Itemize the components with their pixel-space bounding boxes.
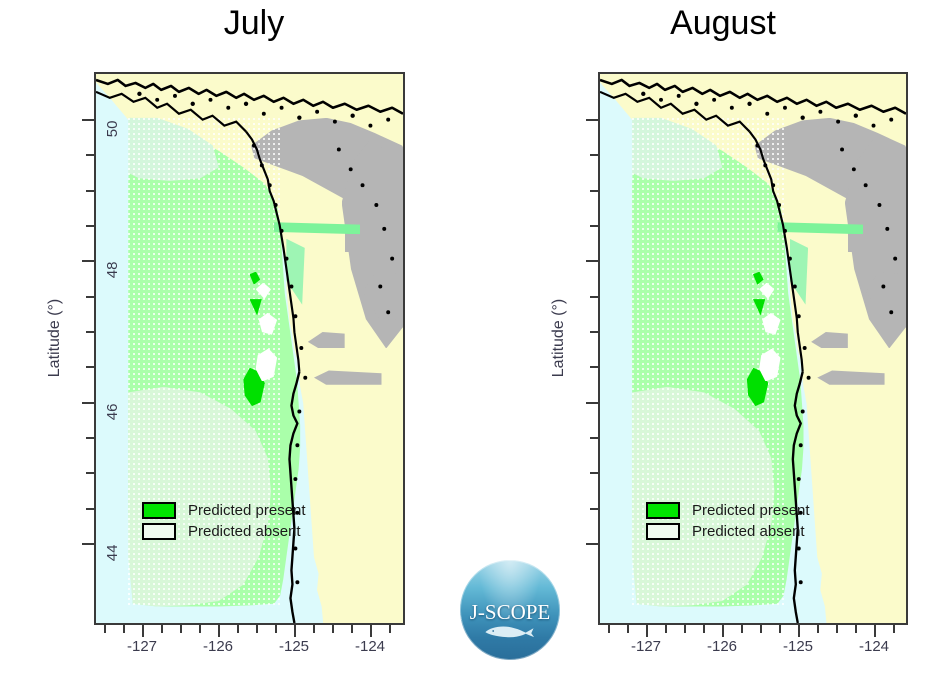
jscope-logo[interactable]: J-SCOPE (460, 560, 560, 660)
logo-text: J-SCOPE (460, 600, 560, 625)
x-tick-minor (893, 625, 895, 633)
y-tick-minor (590, 225, 598, 227)
panel-title-august: August (463, 6, 927, 40)
x-tick-minor (389, 625, 391, 633)
x-tick-label: -127 (127, 638, 157, 655)
legend-swatch-absent (646, 523, 680, 540)
x-tick-major (798, 625, 800, 637)
legend-july: Predicted present Predicted absent (142, 502, 306, 544)
y-axis-label-august: Latitude (°) (550, 299, 568, 377)
y-tick-minor (86, 366, 94, 368)
y-tick-minor (590, 366, 598, 368)
y-tick-minor (590, 508, 598, 510)
x-tick-label: -126 (203, 638, 233, 655)
x-tick-major (646, 625, 648, 637)
y-tick-minor (590, 296, 598, 298)
legend-label-absent: Predicted absent (188, 523, 301, 540)
x-tick-label: -125 (783, 638, 813, 655)
x-tick-minor (313, 625, 315, 633)
y-tick-major (82, 260, 94, 262)
x-tick-minor (332, 625, 334, 633)
map-july[interactable]: Predicted present Predicted absent (94, 72, 405, 625)
x-tick-label: -127 (631, 638, 661, 655)
x-tick-minor (351, 625, 353, 633)
x-tick-minor (104, 625, 106, 633)
y-tick-minor (590, 190, 598, 192)
legend-row-present: Predicted present (142, 502, 306, 519)
legend-swatch-absent (142, 523, 176, 540)
x-tick-minor (817, 625, 819, 633)
legend-label-absent: Predicted absent (692, 523, 805, 540)
y-tick-minor (86, 331, 94, 333)
y-tick-label: 48 (105, 262, 122, 279)
x-tick-major (142, 625, 144, 637)
x-tick-label: -124 (355, 638, 385, 655)
x-tick-major (722, 625, 724, 637)
x-tick-minor (741, 625, 743, 633)
y-tick-label: 46 (105, 404, 122, 421)
x-tick-major (294, 625, 296, 637)
x-tick-major (218, 625, 220, 637)
x-tick-minor (627, 625, 629, 633)
y-tick-minor (86, 472, 94, 474)
y-tick-label: 44 (105, 545, 122, 562)
legend-label-present: Predicted present (692, 502, 810, 519)
x-tick-minor (684, 625, 686, 633)
y-tick-minor (86, 508, 94, 510)
x-tick-minor (855, 625, 857, 633)
y-tick-label: 50 (105, 121, 122, 138)
legend-swatch-present (142, 502, 176, 519)
y-tick-major (82, 402, 94, 404)
y-tick-major (586, 119, 598, 121)
fish-icon (482, 623, 538, 639)
y-tick-minor (590, 154, 598, 156)
y-tick-minor (590, 331, 598, 333)
legend-row-present: Predicted present (646, 502, 810, 519)
x-tick-label: -126 (707, 638, 737, 655)
panel-title-july: July (0, 6, 486, 40)
y-tick-major (82, 543, 94, 545)
x-tick-minor (275, 625, 277, 633)
x-tick-minor (665, 625, 667, 633)
x-tick-minor (760, 625, 762, 633)
y-tick-major (586, 543, 598, 545)
y-tick-minor (86, 225, 94, 227)
y-tick-minor (86, 154, 94, 156)
legend-swatch-present (646, 502, 680, 519)
x-tick-minor (161, 625, 163, 633)
y-tick-major (586, 260, 598, 262)
y-tick-minor (590, 472, 598, 474)
legend-label-present: Predicted present (188, 502, 306, 519)
x-tick-minor (256, 625, 258, 633)
x-tick-minor (199, 625, 201, 633)
y-tick-minor (86, 190, 94, 192)
x-tick-major (370, 625, 372, 637)
legend-august: Predicted present Predicted absent (646, 502, 810, 544)
y-tick-minor (86, 437, 94, 439)
x-tick-minor (608, 625, 610, 633)
panel-july: July Latitude (°) 50 48 46 44 (0, 0, 464, 676)
x-tick-minor (703, 625, 705, 633)
x-tick-minor (180, 625, 182, 633)
map-august[interactable]: Predicted present Predicted absent (598, 72, 908, 625)
y-tick-major (82, 119, 94, 121)
y-tick-major (586, 402, 598, 404)
y-tick-minor (590, 437, 598, 439)
y-axis-label-july: Latitude (°) (46, 299, 64, 377)
x-tick-major (874, 625, 876, 637)
legend-row-absent: Predicted absent (142, 523, 306, 540)
legend-row-absent: Predicted absent (646, 523, 810, 540)
x-tick-minor (237, 625, 239, 633)
x-tick-minor (836, 625, 838, 633)
x-tick-minor (123, 625, 125, 633)
x-tick-label: -124 (859, 638, 889, 655)
y-tick-minor (86, 296, 94, 298)
x-tick-minor (779, 625, 781, 633)
x-tick-label: -125 (279, 638, 309, 655)
